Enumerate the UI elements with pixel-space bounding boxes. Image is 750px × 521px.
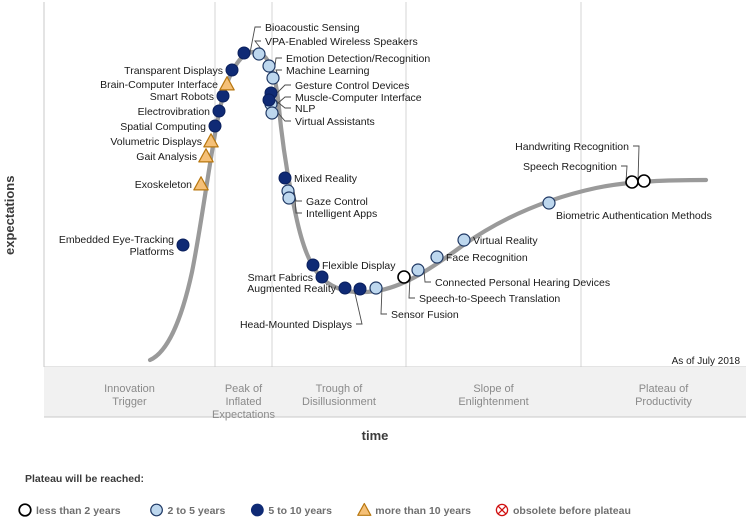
legend-title: Plateau will be reached: (25, 473, 144, 485)
legend-label-5to10: 5 to 10 years (268, 505, 332, 517)
marker-circle-23[interactable] (354, 283, 366, 295)
point-label-5: Electrovibration (138, 106, 211, 118)
marker-circle-9[interactable] (238, 47, 250, 59)
y-axis-title: expectations (2, 176, 17, 255)
marker-circle-5[interactable] (213, 105, 225, 117)
marker-circle-27[interactable] (431, 251, 443, 263)
marker-circle-6[interactable] (217, 90, 229, 102)
point-label-2: Gait Analysis (136, 151, 197, 163)
legend-label-obsolete: obsolete before plateau (513, 505, 631, 517)
point-label-9: Bioacoustic Sensing (265, 22, 360, 34)
point-label-26: Connected Personal Hearing Devices (435, 277, 610, 289)
legend-marker-2to5 (151, 504, 163, 516)
point-label-24: Sensor Fusion (391, 309, 459, 321)
marker-circle-25[interactable] (398, 271, 410, 283)
marker-circle-0[interactable] (177, 239, 189, 251)
phase-label-4: Plateau ofProductivity (635, 383, 692, 408)
marker-circle-24[interactable] (370, 282, 382, 294)
point-label-30: Speech Recognition (523, 161, 617, 173)
legend-label-2to5: 2 to 5 years (168, 505, 226, 517)
point-label-22: Augmented Reality (247, 283, 336, 295)
point-label-13: Gesture Control Devices (295, 80, 409, 92)
marker-circle-11[interactable] (263, 60, 275, 72)
point-label-6: Smart Robots (150, 91, 214, 103)
point-label-15: NLP (295, 103, 315, 115)
x-axis-title: time (362, 428, 389, 443)
marker-circle-26[interactable] (412, 264, 424, 276)
marker-circle-20[interactable] (307, 259, 319, 271)
point-label-31: Handwriting Recognition (515, 141, 629, 153)
point-label-29: Biometric Authentication Methods (556, 210, 712, 222)
marker-circle-8[interactable] (226, 64, 238, 76)
marker-circle-29[interactable] (543, 197, 555, 209)
point-label-4: Spatial Computing (120, 121, 206, 133)
marker-circle-16[interactable] (266, 107, 278, 119)
marker-circle-12[interactable] (267, 72, 279, 84)
point-label-17: Mixed Reality (294, 173, 358, 185)
legend-label-lt2: less than 2 years (36, 505, 121, 517)
marker-circle-17[interactable] (279, 172, 291, 184)
as-of-date: As of July 2018 (672, 356, 741, 367)
point-label-28: Virtual Reality (473, 235, 538, 247)
legend-items: less than 2 years2 to 5 years5 to 10 yea… (19, 504, 631, 518)
chart-svg: InnovationTriggerPeak ofInflatedExpectat… (0, 0, 750, 521)
point-label-25: Speech-to-Speech Translation (419, 293, 560, 305)
marker-circle-21[interactable] (316, 271, 328, 283)
point-label-7: Brain-Computer Interface (100, 79, 218, 91)
point-label-11: Emotion Detection/Recognition (286, 53, 430, 65)
marker-circle-31[interactable] (638, 175, 650, 187)
point-label-19: Intelligent Apps (306, 208, 377, 220)
legend-label-gt10: more than 10 years (375, 505, 471, 517)
point-label-3: Volumetric Displays (110, 136, 202, 148)
marker-circle-28[interactable] (458, 234, 470, 246)
point-label-18: Gaze Control (306, 196, 368, 208)
marker-circle-4[interactable] (209, 120, 221, 132)
legend-marker-lt2 (19, 504, 31, 516)
legend-marker-5to10 (252, 504, 264, 516)
marker-circle-22[interactable] (339, 282, 351, 294)
point-label-20: Flexible Display (322, 260, 396, 272)
point-label-27: Face Recognition (446, 252, 528, 264)
marker-circle-15[interactable] (263, 94, 275, 106)
hype-cycle-chart: InnovationTriggerPeak ofInflatedExpectat… (0, 0, 750, 521)
point-label-12: Machine Learning (286, 65, 370, 77)
point-label-10: VPA-Enabled Wireless Speakers (265, 36, 418, 48)
marker-circle-10[interactable] (253, 48, 265, 60)
point-label-1: Exoskeleton (135, 179, 192, 191)
legend-marker-obsolete (496, 504, 507, 515)
point-label-8: Transparent Displays (124, 65, 223, 77)
point-label-16: Virtual Assistants (295, 116, 375, 128)
point-label-23: Head-Mounted Displays (240, 319, 352, 331)
marker-circle-30[interactable] (626, 176, 638, 188)
marker-circle-19[interactable] (283, 192, 295, 204)
